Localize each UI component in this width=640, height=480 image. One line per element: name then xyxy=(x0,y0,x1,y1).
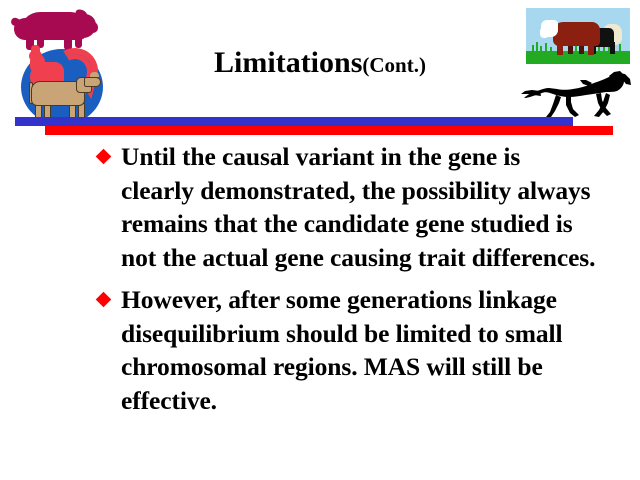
page-title-continuation: (Cont.) xyxy=(362,53,426,77)
grass-tuft-shape xyxy=(536,42,538,54)
divider-bar-red xyxy=(45,126,613,135)
grass-tuft-shape xyxy=(545,43,547,54)
diamond-bullet-icon xyxy=(96,292,112,308)
cattle-in-pasture-image xyxy=(526,8,630,64)
hereford-leg-shape xyxy=(588,43,594,55)
page-title: Limitations(Cont.) xyxy=(120,46,520,82)
list-item-text: However, after some generations linkage … xyxy=(121,283,598,417)
rooster-comb-shape xyxy=(31,45,40,52)
list-item: Until the causal variant in the gene is … xyxy=(98,140,598,274)
horse-silhouette-icon xyxy=(520,70,632,120)
slide-body-content: Until the causal variant in the gene is … xyxy=(98,140,598,426)
list-item-text: Until the causal variant in the gene is … xyxy=(121,140,598,274)
hereford-leg-shape xyxy=(557,43,563,55)
list-item: However, after some generations linkage … xyxy=(98,283,598,417)
grass-tuft-shape xyxy=(532,45,534,54)
pig-leg-shape xyxy=(75,35,82,48)
grass-tuft-shape xyxy=(619,44,621,54)
divider-bar-blue xyxy=(15,117,573,126)
farm-animals-logo-image xyxy=(4,2,114,126)
galloping-horse-image xyxy=(520,70,632,120)
grass-tuft-shape xyxy=(540,46,542,54)
diamond-bullet-icon xyxy=(96,149,112,165)
cow-head-shape xyxy=(84,77,101,87)
page-title-main: Limitations xyxy=(214,46,362,79)
hereford-face-shape xyxy=(540,27,549,38)
pig-snout-shape xyxy=(89,22,98,33)
holstein-leg-shape xyxy=(610,42,615,54)
grass-tuft-shape xyxy=(550,47,552,54)
presentation-slide: Limitations(Cont.) xyxy=(0,0,640,480)
